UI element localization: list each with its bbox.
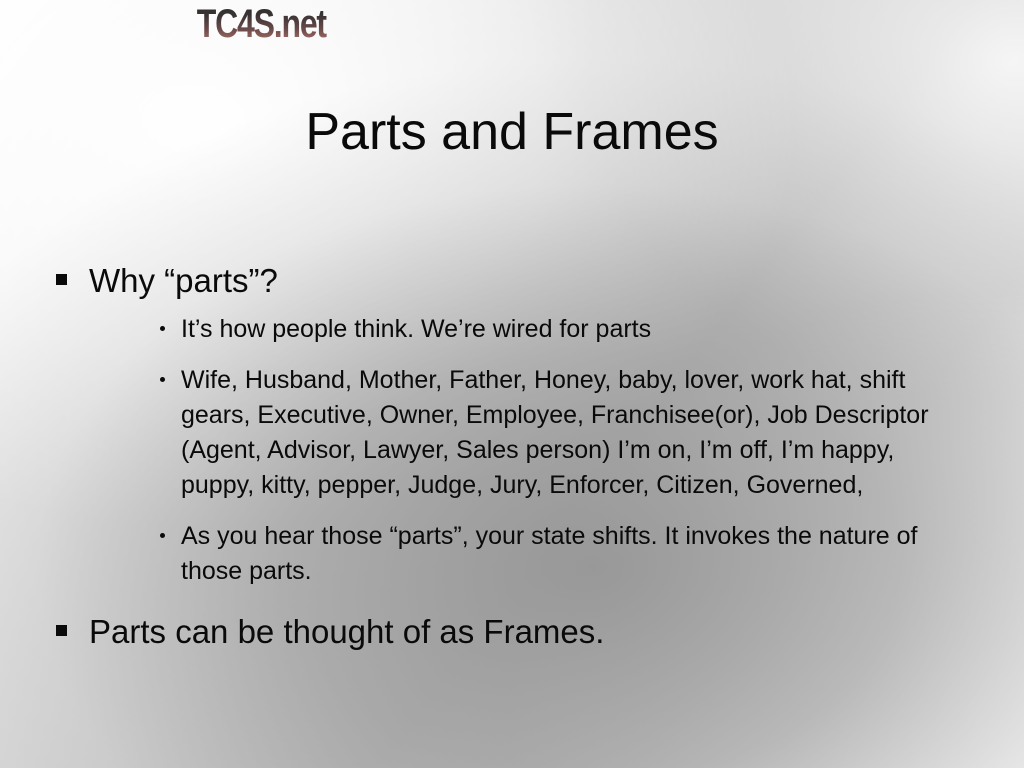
bullet-level1-label: Parts can be thought of as Frames. (89, 611, 604, 653)
sub-bullet-label: As you hear those “parts”, your state sh… (181, 519, 971, 589)
bullet-level1-why-parts: Why “parts”? (44, 260, 994, 302)
dot-bullet-icon (160, 326, 165, 331)
bullet-level1-parts-as-frames: Parts can be thought of as Frames. (44, 611, 994, 653)
sub-bullet-label: It’s how people think. We’re wired for p… (181, 312, 651, 347)
dot-bullet-icon (160, 377, 165, 382)
sub-bullet-list: It’s how people think. We’re wired for p… (44, 312, 994, 589)
page-title: Parts and Frames (0, 102, 1024, 162)
sub-bullet-label: Wife, Husband, Mother, Father, Honey, ba… (181, 363, 971, 503)
slide-body: Why “parts”? It’s how people think. We’r… (44, 260, 994, 653)
square-bullet-icon (56, 625, 67, 636)
list-item: Wife, Husband, Mother, Father, Honey, ba… (44, 363, 994, 503)
presentation-slide: TC4S.net Parts and Frames Why “parts”? I… (0, 0, 1024, 768)
tc4s-brand-logo: TC4S.net (197, 2, 1016, 46)
square-bullet-icon (56, 274, 67, 285)
list-item: As you hear those “parts”, your state sh… (44, 519, 994, 589)
dot-bullet-icon (160, 533, 165, 538)
list-item: It’s how people think. We’re wired for p… (44, 312, 994, 347)
bullet-level1-label: Why “parts”? (89, 260, 278, 302)
